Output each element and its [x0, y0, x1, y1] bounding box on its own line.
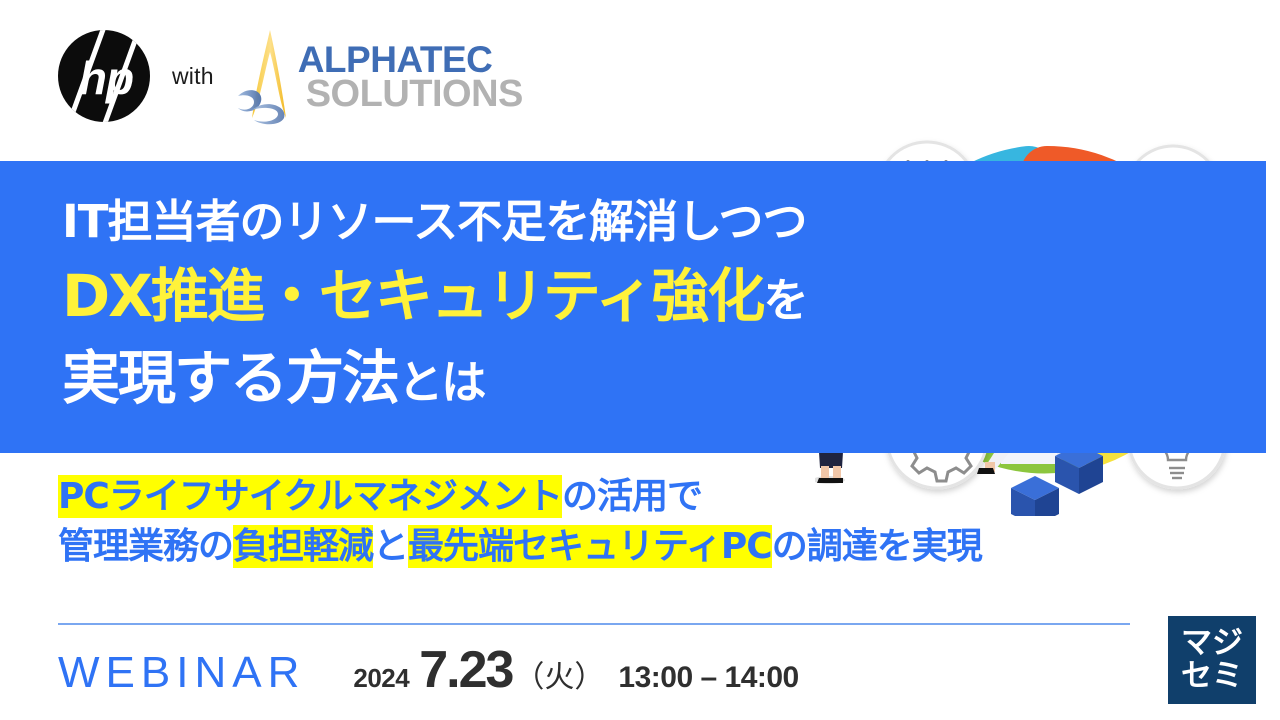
hp-logo-text: hp [60, 32, 150, 122]
subtitle-line-1: PCライフサイクルマネジメントの活用で [58, 472, 982, 522]
webinar-label: WEBINAR [58, 648, 305, 698]
footer-block: WEBINAR 2024 7.23 （火） 13:00 – 14:00 [58, 640, 799, 700]
partner-logo-row: hp with [58, 24, 468, 128]
alphatec-solutions-logo: ALPHATEC SOLUTIONS [232, 24, 468, 128]
alphatec-swoosh-icon [236, 26, 302, 126]
subtitle-highlight-3: 最先端セキュリティPC [408, 525, 772, 568]
subtitle-highlight-2: 負担軽減 [233, 525, 373, 568]
event-date: 7.23 [419, 640, 512, 700]
hp-logo: hp [58, 30, 150, 122]
subtitle-highlight-1: PCライフサイクルマネジメント [58, 475, 562, 518]
alphatec-word-bottom: SOLUTIONS [306, 77, 523, 111]
subtitle-line-2: 管理業務の負担軽減と最先端セキュリティPCの調達を実現 [58, 522, 982, 572]
title-banner-band [0, 161, 1266, 453]
footer-divider [58, 623, 1130, 625]
alphatec-wordmark: ALPHATEC SOLUTIONS [298, 44, 523, 111]
majisemi-logo-line-2: セミ [1181, 660, 1243, 693]
majisemi-logo-line-1: マジ [1181, 627, 1243, 660]
subtitle-line-1-plain: の活用で [562, 476, 702, 517]
event-time: 13:00 – 14:00 [618, 661, 798, 695]
alphatec-word-top: ALPHATEC [298, 44, 523, 77]
subtitle-line-2-a: 管理業務の [58, 526, 233, 567]
event-year: 2024 [353, 663, 409, 694]
subtitle-line-2-b: と [373, 526, 408, 567]
subtitle-block: PCライフサイクルマネジメントの活用で 管理業務の負担軽減と最先端セキュリティP… [58, 472, 982, 571]
with-label: with [172, 63, 214, 90]
poster-canvas: hp with [0, 0, 1280, 720]
event-day-of-week: （火） [514, 652, 604, 696]
event-datetime: 2024 7.23 （火） 13:00 – 14:00 [353, 640, 798, 700]
subtitle-line-2-c: の調達を実現 [772, 526, 982, 567]
majisemi-logo: マジ セミ [1168, 616, 1256, 704]
